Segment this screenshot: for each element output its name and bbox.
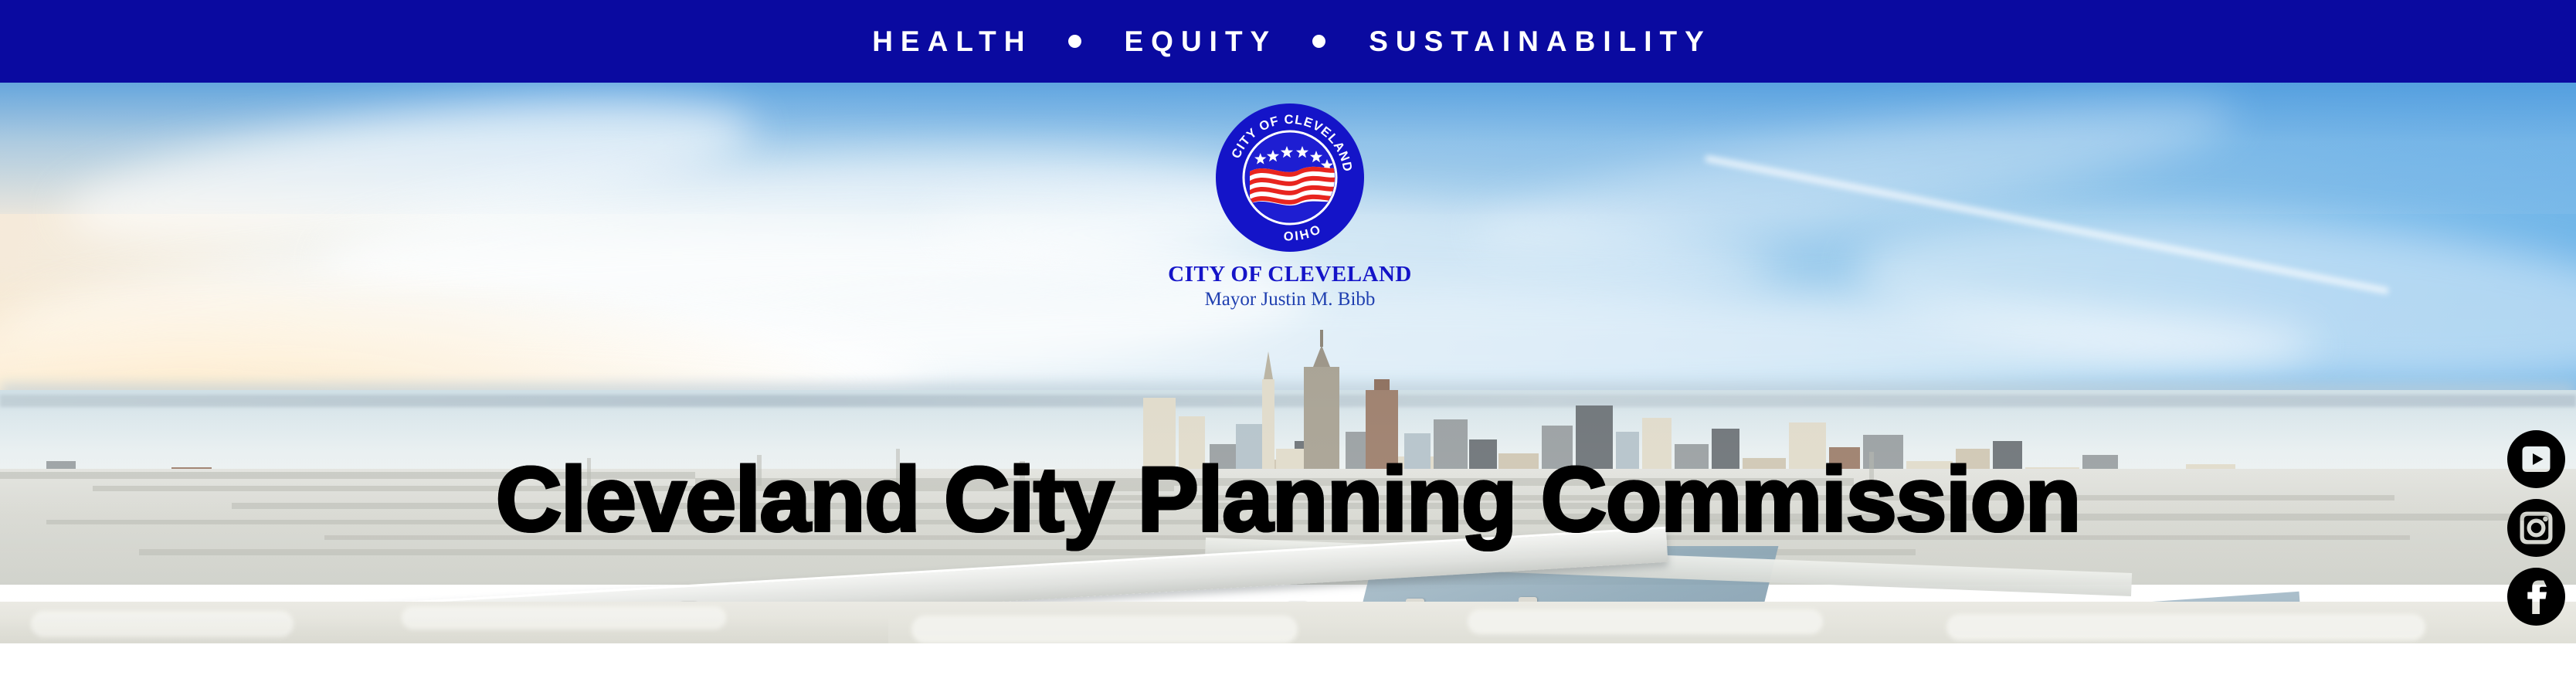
slogan-separator-dot-1 [1068, 35, 1081, 48]
city-branding-block: CITY OF CLEVELAND OHIO [1155, 100, 1425, 310]
city-of-cleveland-seal-icon: CITY OF CLEVELAND OHIO [1213, 100, 1367, 255]
slogan-word-sustainability: SUSTAINABILITY [1361, 27, 1712, 56]
social-links [2505, 430, 2567, 626]
bottom-white-strip [0, 643, 2576, 682]
foreground-shading [0, 616, 888, 643]
youtube-icon[interactable] [2507, 430, 2565, 488]
page-root: HEALTH EQUITY SUSTAINABILITY [0, 0, 2576, 682]
wordmark-city-line: CITY OF CLEVELAND [1155, 263, 1425, 286]
page-title: Cleveland City Planning Commission [0, 454, 2576, 545]
slogan-word-equity: EQUITY [1117, 27, 1278, 56]
slogan-inner: HEALTH EQUITY SUSTAINABILITY [864, 27, 1712, 56]
slogan-bar: HEALTH EQUITY SUSTAINABILITY [0, 0, 2576, 83]
wordmark-mayor-line: Mayor Justin M. Bibb [1155, 290, 1425, 310]
slogan-separator-dot-2 [1312, 35, 1325, 48]
instagram-icon[interactable] [2507, 499, 2565, 557]
slogan-word-health: HEALTH [864, 27, 1032, 56]
facebook-icon[interactable] [2507, 568, 2565, 626]
